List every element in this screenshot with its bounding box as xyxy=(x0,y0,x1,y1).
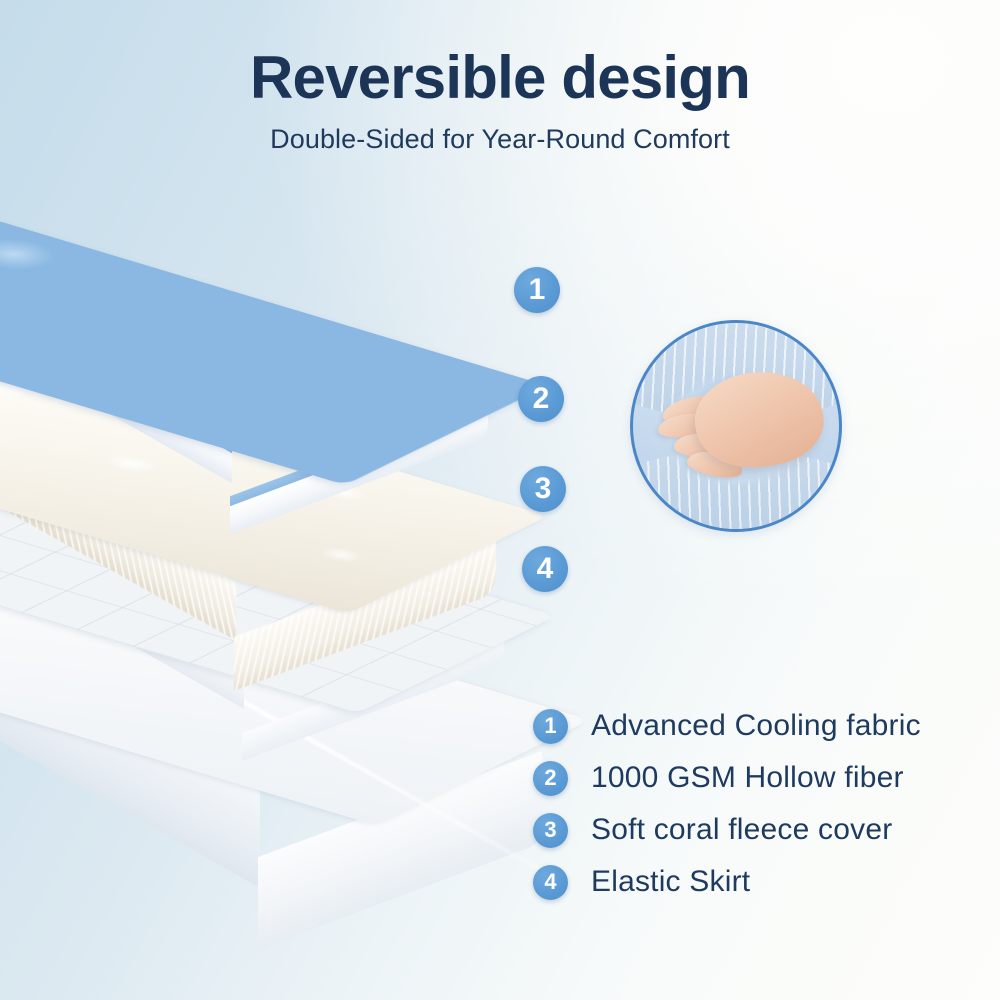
legend-item[interactable]: 2 1000 GSM Hollow fiber xyxy=(533,752,921,804)
legend-badge-4: 4 xyxy=(533,865,568,900)
legend-item[interactable]: 1 Advanced Cooling fabric xyxy=(533,700,921,752)
layer-badge-2[interactable]: 2 xyxy=(518,376,564,422)
hand-press-inset-circle xyxy=(630,320,842,532)
legend-label-3: Soft coral fleece cover xyxy=(591,813,892,847)
legend-badge-3: 3 xyxy=(533,813,568,848)
layer-badge-1[interactable]: 1 xyxy=(514,267,560,313)
legend-item[interactable]: 4 Elastic Skirt xyxy=(533,856,921,908)
legend-badge-1: 1 xyxy=(533,709,568,744)
header-block: Reversible design Double-Sided for Year-… xyxy=(0,48,1000,153)
legend-label-2: 1000 GSM Hollow fiber xyxy=(591,761,904,795)
layer-legend: 1 Advanced Cooling fabric 2 1000 GSM Hol… xyxy=(533,700,921,908)
layer-badge-4[interactable]: 4 xyxy=(522,546,568,592)
legend-label-4: Elastic Skirt xyxy=(591,865,750,899)
legend-label-1: Advanced Cooling fabric xyxy=(591,709,921,743)
page-title: Reversible design xyxy=(0,48,1000,108)
legend-badge-2: 2 xyxy=(533,761,568,796)
page-subtitle: Double-Sided for Year-Round Comfort xyxy=(0,126,1000,153)
layer-cooling-topper xyxy=(0,216,582,466)
legend-item[interactable]: 3 Soft coral fleece cover xyxy=(533,804,921,856)
exploded-layer-stack xyxy=(0,180,602,870)
infographic-canvas: Reversible design Double-Sided for Year-… xyxy=(0,0,1000,1000)
layer-badge-3[interactable]: 3 xyxy=(520,466,566,512)
